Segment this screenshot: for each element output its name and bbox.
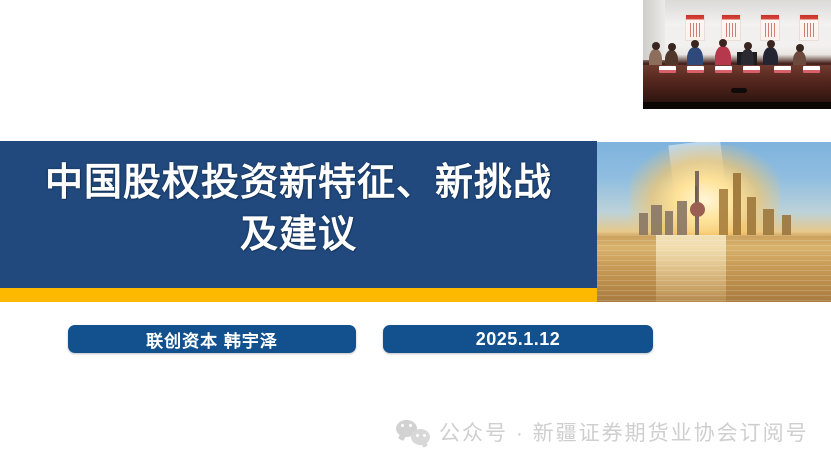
video-room-background <box>643 0 831 109</box>
title-banner: 中国股权投资新特征、新挑战 及建议 <box>0 141 597 288</box>
presentation-slide: 中国股权投资新特征、新挑战 及建议 联创资本 韩宇泽 2025.1.12 <box>0 0 831 464</box>
name-card <box>774 66 791 73</box>
video-bottom-strip <box>643 102 831 109</box>
building <box>651 205 662 235</box>
speaker-label-text: 联创资本 韩宇泽 <box>146 327 278 352</box>
conference-room-video-overlay[interactable] <box>643 0 831 109</box>
speaker-label-button[interactable]: 联创资本 韩宇泽 <box>68 325 356 353</box>
name-card <box>743 66 760 73</box>
wall-poster-icon <box>685 14 705 41</box>
building-shanghai-tower <box>733 173 741 235</box>
building <box>677 201 687 235</box>
building <box>747 197 756 235</box>
banner-accent-stripe <box>0 288 597 302</box>
building <box>665 211 673 235</box>
table-microphone <box>731 88 747 93</box>
water-ripples <box>597 235 831 302</box>
name-card <box>715 66 732 73</box>
huangpu-river-water <box>597 235 831 302</box>
oriental-pearl-antenna <box>695 186 697 202</box>
building <box>763 209 774 235</box>
date-label-button[interactable]: 2025.1.12 <box>383 325 653 353</box>
building <box>719 189 728 235</box>
wall-poster-icon <box>721 14 741 41</box>
name-card <box>803 66 820 73</box>
wechat-icon <box>396 419 430 445</box>
name-card <box>659 66 676 73</box>
date-label-text: 2025.1.12 <box>476 329 561 350</box>
building <box>639 213 648 235</box>
wall-poster-icon <box>799 14 819 41</box>
wechat-watermark: 公众号 · 新疆证券期货业协会订阅号 <box>396 411 816 453</box>
wall-poster-icon <box>760 14 780 41</box>
slide-title: 中国股权投资新特征、新挑战 及建议 <box>0 157 597 261</box>
building <box>782 215 791 235</box>
shanghai-skyline-image <box>597 142 831 302</box>
watermark-text: 公众号 · 新疆证券期货业协会订阅号 <box>439 417 809 447</box>
name-card <box>687 66 704 73</box>
